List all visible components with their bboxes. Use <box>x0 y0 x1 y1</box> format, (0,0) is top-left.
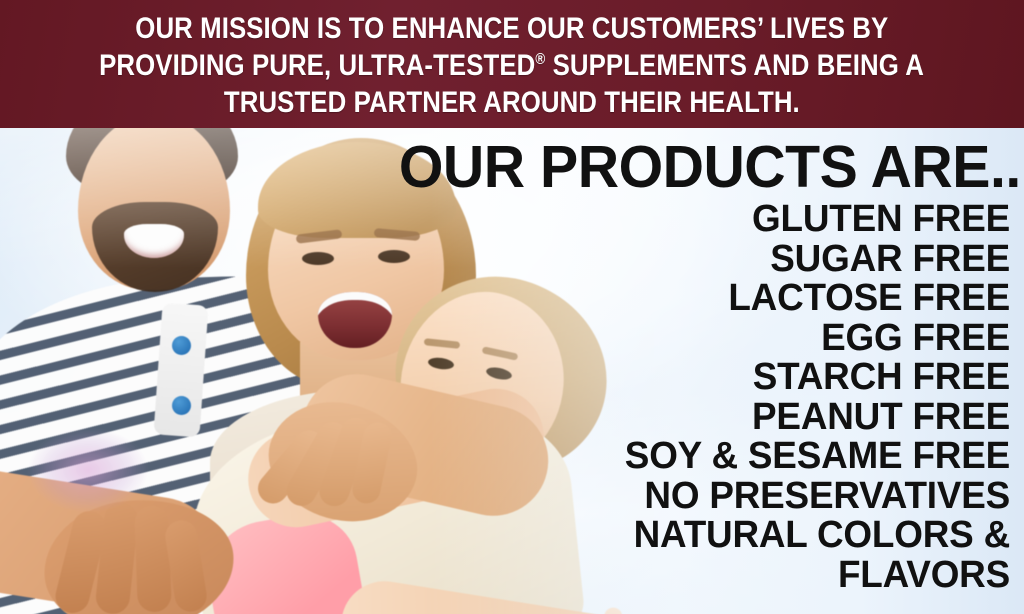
claim-item: SOY & SESAME FREE <box>399 437 1010 477</box>
claim-item: FLAVORS <box>399 556 1010 596</box>
registered-trademark-symbol: ® <box>536 51 546 68</box>
product-claims-block: OUR PRODUCTS ARE... GLUTEN FREE SUGAR FR… <box>380 128 1024 614</box>
claim-item: SUGAR FREE <box>399 240 1010 280</box>
family-photo-stage: OUR PRODUCTS ARE... GLUTEN FREE SUGAR FR… <box>0 128 1024 614</box>
claim-item: EGG FREE <box>399 319 1010 359</box>
claim-item: GLUTEN FREE <box>399 200 1010 240</box>
claim-item: LACTOSE FREE <box>399 279 1010 319</box>
mission-line-2: PROVIDING PURE, ULTRA-TESTED® SUPPLEMENT… <box>100 47 925 84</box>
claims-list: GLUTEN FREE SUGAR FREE LACTOSE FREE EGG … <box>380 198 1010 595</box>
mission-statement-banner: OUR MISSION IS TO ENHANCE OUR CUSTOMERS’… <box>0 0 1024 128</box>
supplement-brand-banner-ad: OUR MISSION IS TO ENHANCE OUR CUSTOMERS’… <box>0 0 1024 614</box>
claim-item: PEANUT FREE <box>399 398 1010 438</box>
claims-heading: OUR PRODUCTS ARE... <box>399 128 1010 198</box>
mission-line-2-text: PROVIDING PURE, ULTRA-TESTED <box>100 49 536 82</box>
claim-item: NO PRESERVATIVES <box>399 477 1010 517</box>
mission-line-1: OUR MISSION IS TO ENHANCE OUR CUSTOMERS’… <box>135 10 888 47</box>
claim-item: NATURAL COLORS & <box>399 516 1010 556</box>
mission-line-3: TRUSTED PARTNER AROUND THEIR HEALTH. <box>224 84 800 121</box>
mission-line-2-text-tail: SUPPLEMENTS AND BEING A <box>546 49 925 82</box>
claim-item: STARCH FREE <box>399 358 1010 398</box>
